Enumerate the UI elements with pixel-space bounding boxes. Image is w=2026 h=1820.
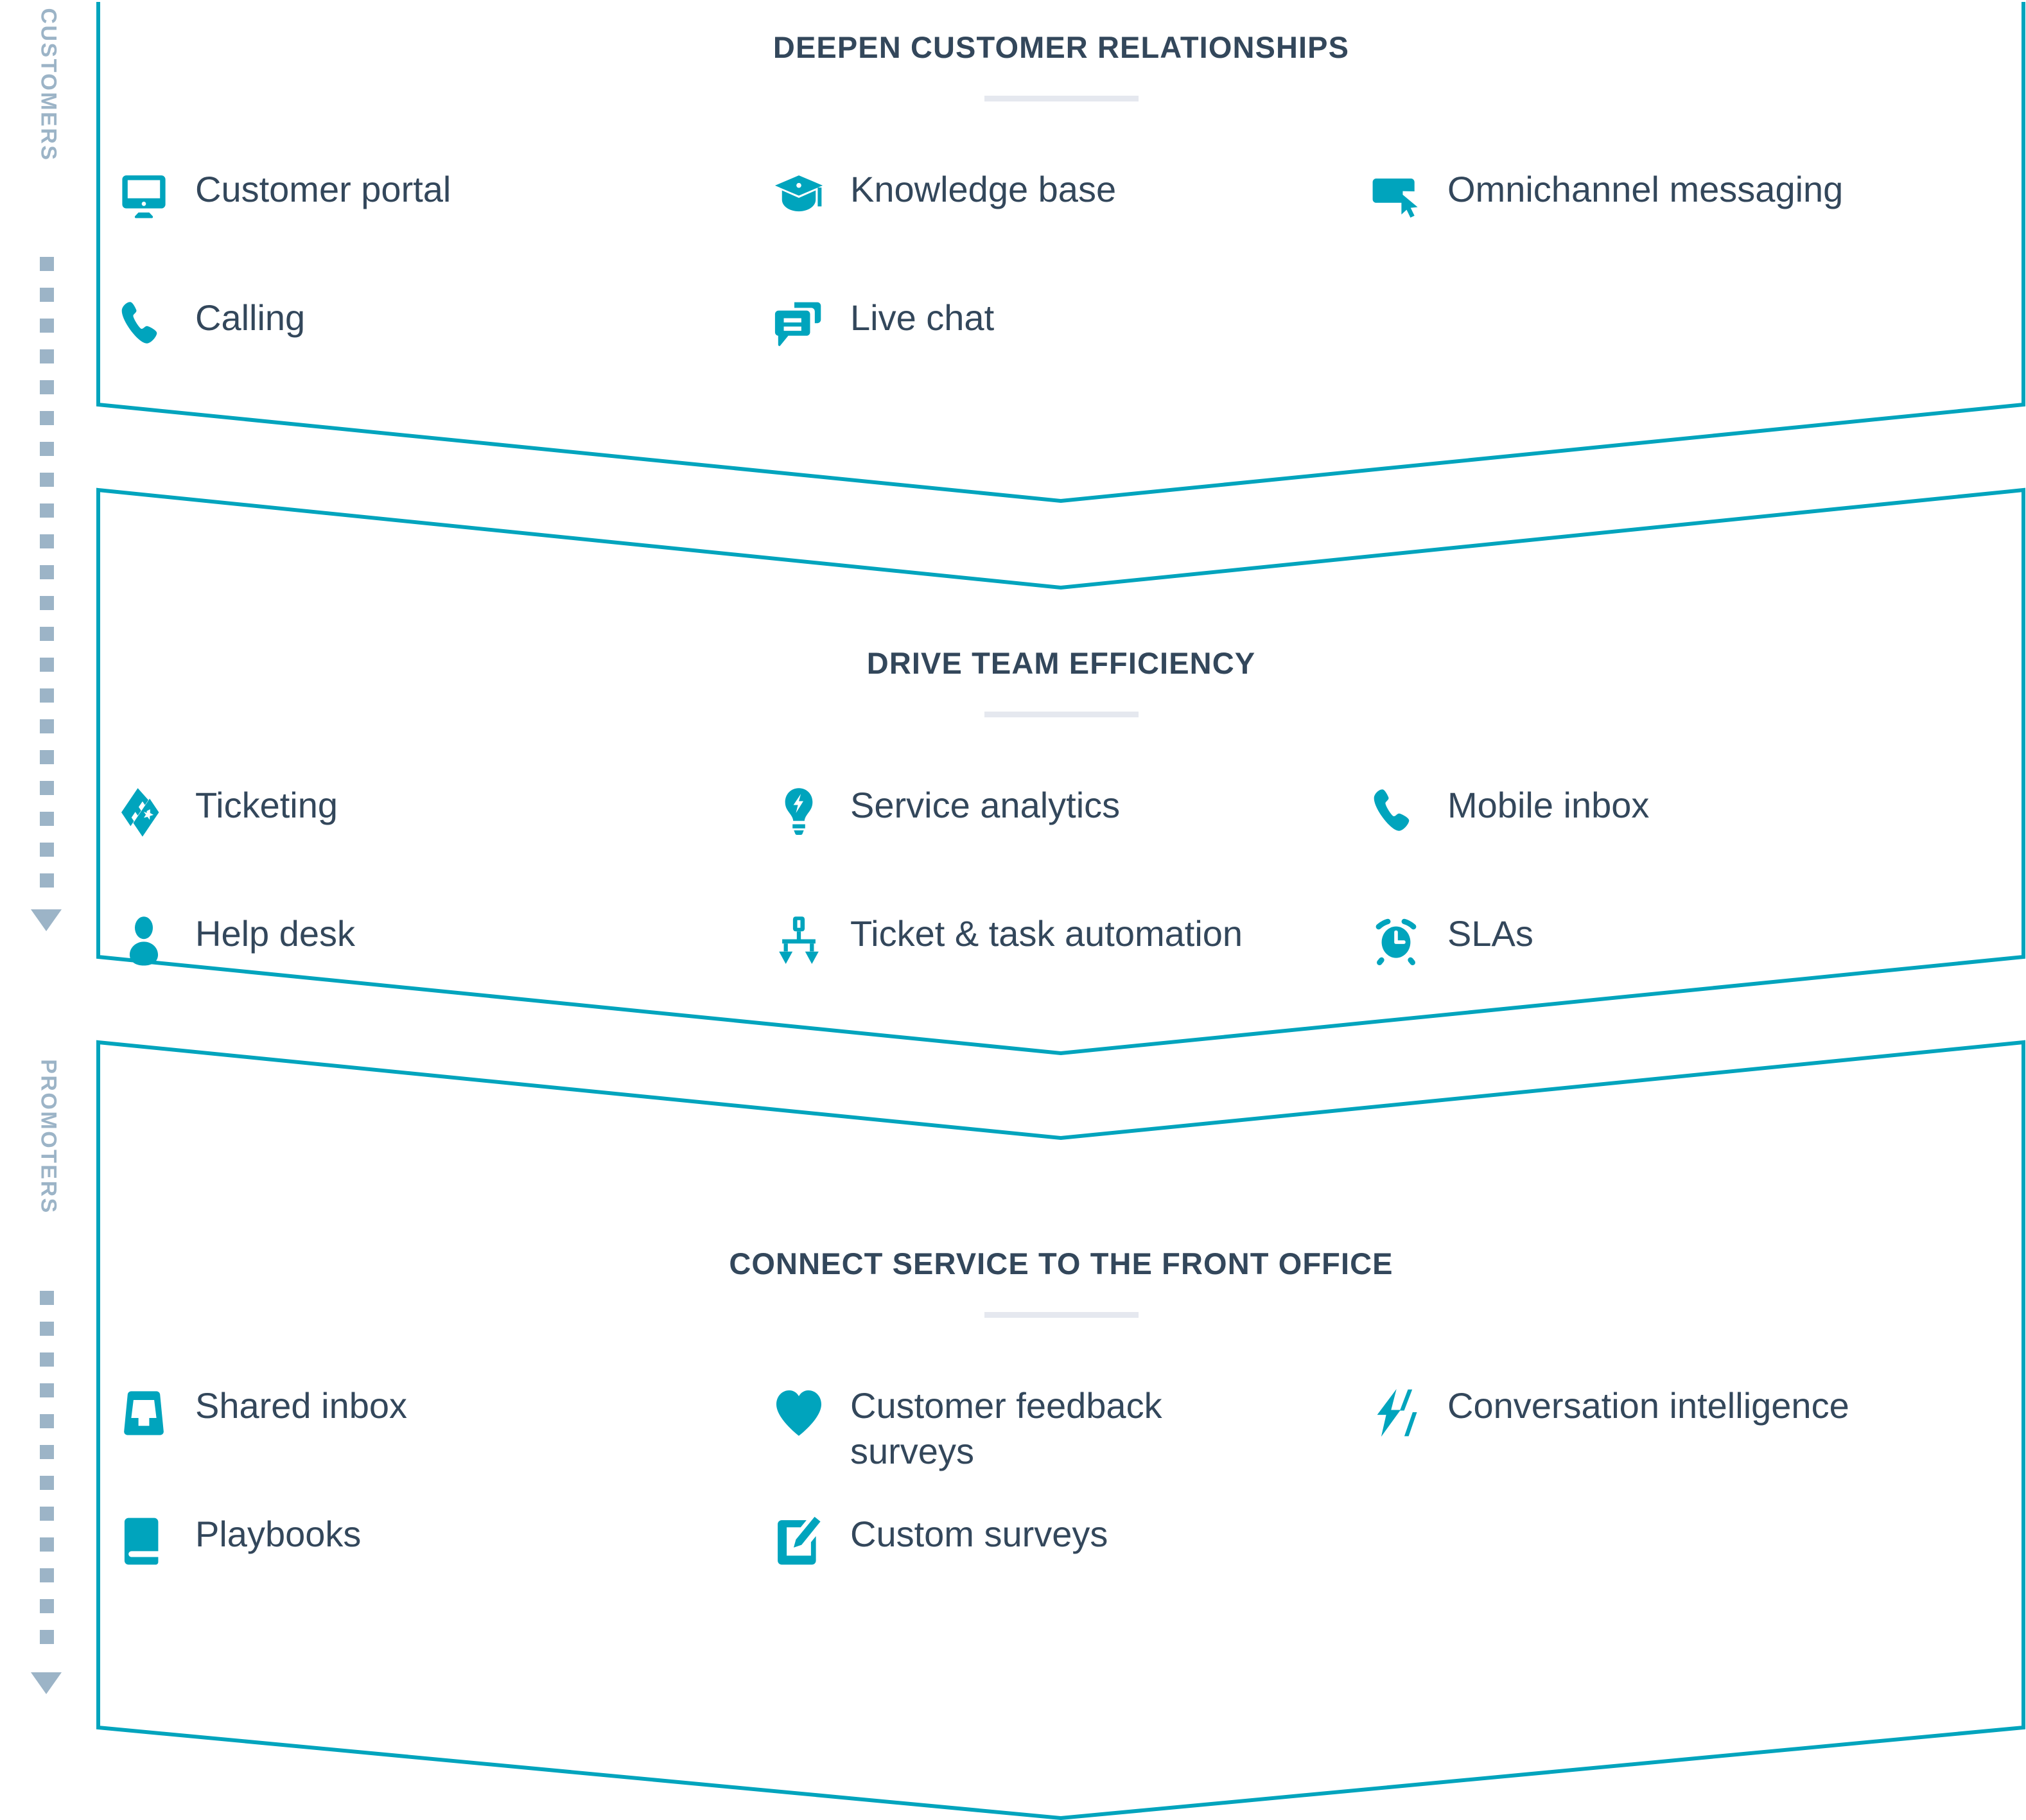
feature-mobile-inbox[interactable]: Mobile inbox <box>1368 782 2010 910</box>
rail-dash <box>40 627 54 641</box>
chat-bubbles-icon <box>771 297 827 353</box>
phone-icon <box>1368 784 1424 841</box>
rail-dash <box>40 1507 54 1521</box>
rail-dash <box>40 473 54 487</box>
rail-dash <box>40 719 54 733</box>
rail-dash <box>40 380 54 394</box>
rail-dash <box>40 843 54 857</box>
phone-icon <box>116 297 172 353</box>
journey-rail: CUSTOMERS PROMOTERS <box>0 0 96 1820</box>
section-title-2: DRIVE TEAM EFFICIENCY <box>96 645 2026 681</box>
rail-dash <box>40 1322 54 1336</box>
ticket-star-icon <box>116 784 172 841</box>
alarm-clock-icon <box>1368 913 1424 969</box>
panel-connect-service-front-office: CONNECT SERVICE TO THE FRONT OFFICE Shar… <box>96 1040 2026 1820</box>
rail-dash <box>40 1599 54 1613</box>
feature-label: Service analytics <box>850 782 1120 828</box>
feature-empty-slot <box>1368 1510 2010 1639</box>
rail-dash <box>40 534 54 548</box>
feature-customer-portal[interactable]: Customer portal <box>116 166 771 294</box>
feature-empty-slot <box>1368 294 2010 423</box>
rail-label-promoters: PROMOTERS <box>36 1059 61 1214</box>
workflow-branch-icon <box>771 913 827 969</box>
section-rule-2 <box>984 712 1139 717</box>
feature-label: Help desk <box>195 910 355 957</box>
heart-icon <box>771 1385 827 1441</box>
section-title-3: CONNECT SERVICE TO THE FRONT OFFICE <box>96 1246 2026 1281</box>
rail-dash <box>40 349 54 363</box>
rail-dash <box>40 781 54 795</box>
rail-dashes-lower <box>39 1291 55 1644</box>
pencil-document-icon <box>771 1513 827 1570</box>
book-icon <box>116 1513 172 1570</box>
panel-drive-team-efficiency: DRIVE TEAM EFFICIENCY Ticketing <box>96 488 2026 1053</box>
rail-dash <box>40 596 54 610</box>
feature-label: Calling <box>195 294 305 341</box>
lightning-bolt-icon <box>1368 1385 1424 1441</box>
feature-label: Ticket & task automation <box>850 910 1243 957</box>
rail-dash <box>40 442 54 456</box>
feature-grid-1: Customer portal Knowledge base <box>96 166 2026 423</box>
rail-dash <box>40 688 54 703</box>
feature-omnichannel-messaging[interactable]: Omnichannel messaging <box>1368 166 2010 294</box>
feature-label: Customer feedback surveys <box>850 1382 1261 1474</box>
rail-dash <box>40 288 54 302</box>
person-icon <box>116 913 172 969</box>
feature-grid-2: Ticketing Service analytics <box>96 782 2026 1038</box>
rail-dash <box>40 503 54 518</box>
inbox-tray-icon <box>116 1385 172 1441</box>
panel-deepen-customer-relationships: DEEPEN CUSTOMER RELATIONSHIPS Customer p… <box>96 0 2026 501</box>
feature-label: Customer portal <box>195 166 451 213</box>
rail-dash <box>40 1630 54 1644</box>
feature-label: SLAs <box>1447 910 1533 957</box>
section-rule-1 <box>984 96 1139 101</box>
rail-dash <box>40 565 54 579</box>
feature-label: Shared inbox <box>195 1382 407 1429</box>
feature-label: Custom surveys <box>850 1510 1108 1557</box>
rail-dash <box>40 1445 54 1459</box>
section-title-1: DEEPEN CUSTOMER RELATIONSHIPS <box>96 30 2026 65</box>
feature-ticketing[interactable]: Ticketing <box>116 782 771 910</box>
feature-help-desk[interactable]: Help desk <box>116 910 771 1038</box>
feature-playbooks[interactable]: Playbooks <box>116 1510 771 1639</box>
monitor-icon <box>116 168 172 225</box>
feature-label: Playbooks <box>195 1510 361 1557</box>
graduation-cap-icon <box>771 168 827 225</box>
feature-label: Conversation intelligence <box>1447 1382 1849 1429</box>
service-hub-diagram: CUSTOMERS PROMOTERS <box>0 0 2026 1820</box>
feature-knowledge-base[interactable]: Knowledge base <box>771 166 1368 294</box>
rail-dash <box>40 750 54 764</box>
rail-dashes-upper <box>39 257 55 888</box>
rail-dash <box>40 658 54 672</box>
feature-custom-surveys[interactable]: Custom surveys <box>771 1510 1368 1639</box>
feature-live-chat[interactable]: Live chat <box>771 294 1368 423</box>
rail-arrow-bottom <box>31 1672 62 1694</box>
rail-dash <box>40 1352 54 1367</box>
rail-dash <box>40 1537 54 1552</box>
rail-dash <box>40 812 54 826</box>
feature-label: Ticketing <box>195 782 338 828</box>
feature-slas[interactable]: SLAs <box>1368 910 2010 1038</box>
feature-label: Omnichannel messaging <box>1447 166 1843 213</box>
rail-arrow-mid <box>31 909 62 931</box>
feature-label: Knowledge base <box>850 166 1116 213</box>
lightbulb-bolt-icon <box>771 784 827 841</box>
feature-grid-3: Shared inbox Customer feedback surveys <box>96 1382 2026 1639</box>
chat-cursor-icon <box>1368 168 1424 225</box>
feature-customer-feedback-surveys[interactable]: Customer feedback surveys <box>771 1382 1368 1510</box>
rail-dash <box>40 1568 54 1582</box>
feature-service-analytics[interactable]: Service analytics <box>771 782 1368 910</box>
rail-dash <box>40 411 54 425</box>
feature-conversation-intelligence[interactable]: Conversation intelligence <box>1368 1382 2010 1510</box>
rail-dash <box>40 257 54 271</box>
feature-label: Live chat <box>850 294 994 341</box>
feature-shared-inbox[interactable]: Shared inbox <box>116 1382 771 1510</box>
rail-dash <box>40 1291 54 1305</box>
rail-label-customers: CUSTOMERS <box>36 8 61 161</box>
rail-dash <box>40 1383 54 1397</box>
feature-label: Mobile inbox <box>1447 782 1649 828</box>
rail-dash <box>40 873 54 888</box>
feature-calling[interactable]: Calling <box>116 294 771 423</box>
rail-dash <box>40 319 54 333</box>
rail-dash <box>40 1414 54 1428</box>
section-rule-3 <box>984 1312 1139 1318</box>
rail-dash <box>40 1476 54 1490</box>
feature-ticket-task-automation[interactable]: Ticket & task automation <box>771 910 1368 1038</box>
